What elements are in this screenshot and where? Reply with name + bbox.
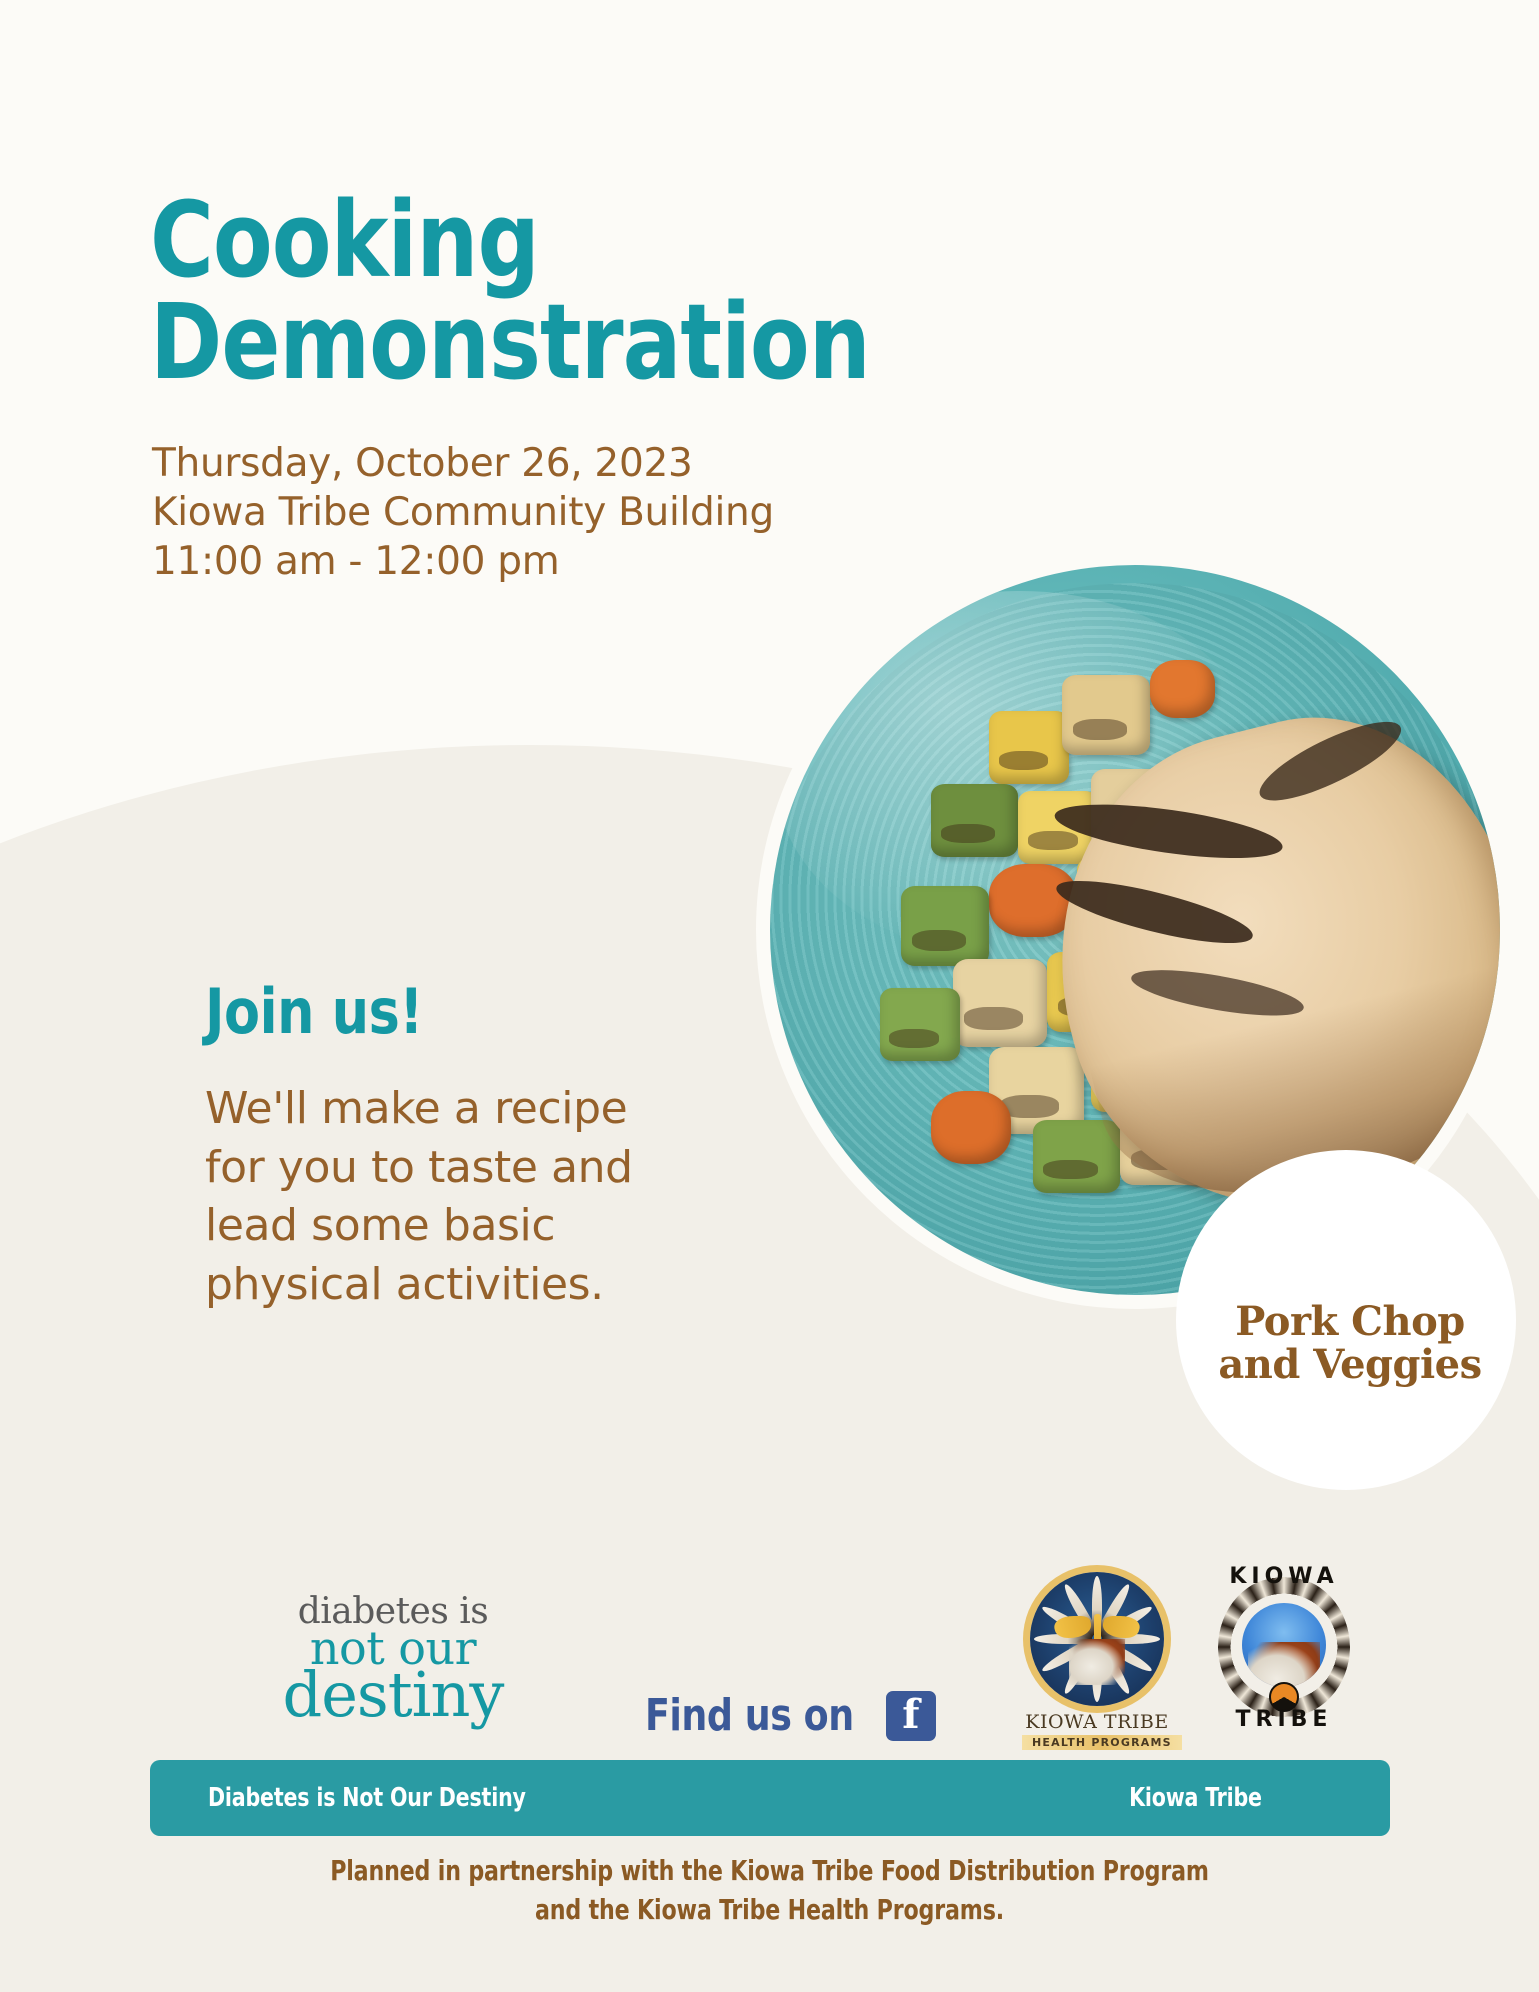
event-details: Thursday, October 26, 2023 Kiowa Tribe C… — [152, 440, 774, 586]
partnership-line-1: Planned in partnership with the Kiowa Tr… — [92, 1852, 1446, 1891]
caduceus-wing-left — [1051, 1616, 1095, 1638]
footer-left-label: Diabetes is Not Our Destiny — [208, 1783, 526, 1813]
sear-mark-1 — [1051, 794, 1285, 869]
sear-mark-3 — [1129, 961, 1307, 1025]
event-date: Thursday, October 26, 2023 — [152, 440, 774, 489]
join-body-line-3: lead some basic — [205, 1197, 633, 1256]
horseman-icon — [1069, 1639, 1125, 1685]
veg-carrot-4 — [931, 1091, 1011, 1164]
veg-pepper-3 — [880, 988, 960, 1061]
find-us-on-facebook[interactable]: Find us on — [645, 1690, 936, 1741]
sear-mark-4 — [1251, 707, 1411, 815]
title-line-1: Cooking — [150, 190, 870, 292]
dind-line-3: destiny — [278, 1666, 508, 1723]
veg-pepper-2 — [901, 886, 989, 966]
health-seal-subtitle: HEALTH PROGRAMS — [1022, 1735, 1182, 1750]
join-body-line-1: We'll make a recipe — [205, 1080, 633, 1139]
veg-pepper-1 — [931, 784, 1019, 857]
tribe-seal-top-word: KIOWA — [1204, 1564, 1364, 1589]
tribe-medallion-icon — [1269, 1682, 1299, 1712]
diabetes-is-not-our-destiny-logo: diabetes is not our destiny — [278, 1595, 508, 1723]
flyer-poster: Cooking Demonstration Thursday, October … — [0, 0, 1539, 1992]
dish-caption-line-1: Pork Chop — [1180, 1300, 1520, 1343]
join-us-heading: Join us! — [205, 975, 607, 1048]
veg-potato-3 — [953, 959, 1048, 1047]
page-title: Cooking Demonstration — [150, 190, 924, 394]
kiowa-tribe-seal: KIOWA TRIBE — [1204, 1562, 1364, 1732]
caduceus-wing-right — [1099, 1616, 1143, 1638]
health-seal-disc — [1030, 1572, 1164, 1706]
facebook-f-icon[interactable] — [886, 1691, 936, 1741]
kiowa-tribe-health-programs-seal: KIOWA TRIBE HEALTH PROGRAMS — [1022, 1572, 1172, 1751]
footer-bar: Diabetes is Not Our Destiny Kiowa Tribe — [150, 1760, 1390, 1836]
veg-squash-1 — [989, 711, 1069, 784]
event-time: 11:00 am - 12:00 pm — [152, 538, 774, 587]
tribe-seal-center — [1242, 1603, 1326, 1687]
join-us-section: Join us! We'll make a recipe for you to … — [205, 975, 633, 1314]
join-body-line-4: physical activities. — [205, 1256, 633, 1315]
dish-caption: Pork Chop and Veggies — [1180, 1300, 1520, 1386]
event-location: Kiowa Tribe Community Building — [152, 489, 774, 538]
find-us-on-label: Find us on — [645, 1690, 854, 1741]
footer-right-label: Kiowa Tribe — [1129, 1783, 1262, 1813]
partnership-note: Planned in partnership with the Kiowa Tr… — [0, 1852, 1539, 1929]
health-seal-name: KIOWA TRIBE — [1022, 1711, 1172, 1733]
join-us-body: We'll make a recipe for you to taste and… — [205, 1080, 633, 1314]
veg-potato-1 — [1062, 675, 1150, 755]
dish-caption-line-2: and Veggies — [1180, 1343, 1520, 1386]
title-line-2: Demonstration — [150, 292, 870, 394]
tribe-horseman-icon — [1248, 1642, 1320, 1687]
partnership-line-2: and the Kiowa Tribe Health Programs. — [92, 1891, 1446, 1930]
join-body-line-2: for you to taste and — [205, 1139, 633, 1198]
sear-mark-2 — [1052, 868, 1258, 954]
veg-carrot-1 — [1150, 660, 1216, 718]
